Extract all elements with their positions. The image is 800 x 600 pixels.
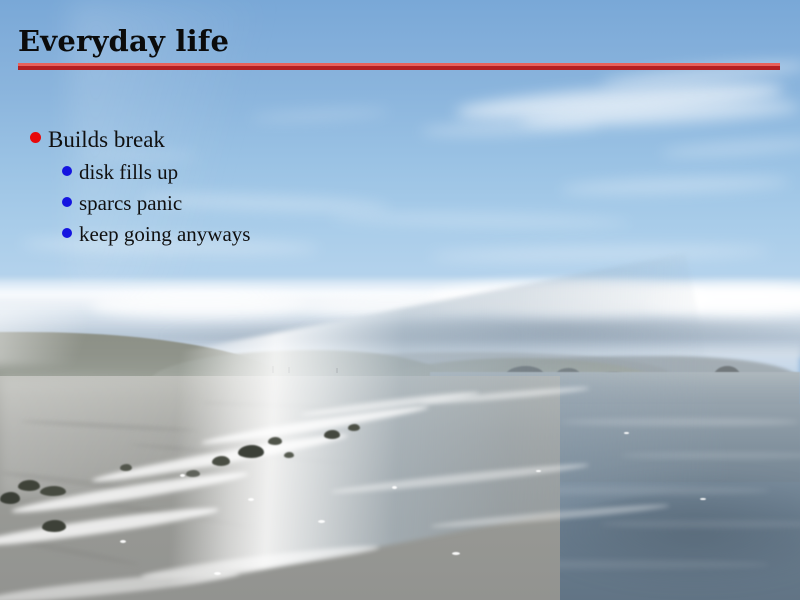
slide-bullet-list: Builds break disk fills up sparcs panic … bbox=[30, 126, 550, 252]
shore-debris bbox=[348, 424, 360, 431]
cloud-lump bbox=[90, 292, 310, 318]
bullet-text: keep going anyways bbox=[79, 221, 250, 247]
rule-shadow-band bbox=[18, 66, 780, 70]
water-glint bbox=[392, 486, 397, 489]
water-glint bbox=[700, 498, 706, 500]
bullet-text: sparcs panic bbox=[79, 190, 182, 216]
shore-debris bbox=[186, 470, 200, 477]
bullet-item: disk fills up bbox=[62, 159, 550, 185]
water-glint bbox=[214, 572, 221, 575]
shore-debris bbox=[40, 486, 66, 496]
shore-debris bbox=[42, 520, 66, 532]
shore-debris bbox=[0, 492, 20, 504]
blue-disc-bullet-icon bbox=[62, 166, 72, 176]
water-glint bbox=[180, 474, 185, 477]
shore-debris bbox=[238, 445, 264, 458]
shore-debris bbox=[284, 452, 294, 458]
water-glint bbox=[452, 552, 460, 555]
presentation-slide: Everyday life Builds break disk fills up… bbox=[0, 0, 800, 600]
water-glint bbox=[248, 498, 254, 501]
shore-debris bbox=[120, 464, 132, 471]
water-glint bbox=[624, 432, 629, 434]
slide-title: Everyday life bbox=[18, 24, 229, 58]
shore-debris bbox=[268, 437, 282, 445]
bullet-item: sparcs panic bbox=[62, 190, 550, 216]
water-glint bbox=[120, 540, 126, 543]
bullet-text: disk fills up bbox=[79, 159, 178, 185]
red-disc-bullet-icon bbox=[30, 132, 41, 143]
blue-disc-bullet-icon bbox=[62, 228, 72, 238]
water-glint bbox=[536, 470, 541, 472]
shore-debris bbox=[212, 456, 230, 466]
shore-debris bbox=[324, 430, 340, 439]
bullet-item: keep going anyways bbox=[62, 221, 550, 247]
slide-background-photo bbox=[0, 0, 800, 600]
bullet-item: Builds break bbox=[30, 126, 550, 153]
water-glint bbox=[318, 520, 325, 523]
blue-disc-bullet-icon bbox=[62, 197, 72, 207]
bullet-text: Builds break bbox=[48, 126, 165, 153]
shore-debris bbox=[18, 480, 40, 491]
dune-highlight bbox=[0, 306, 120, 366]
title-underline-rule bbox=[18, 63, 780, 70]
